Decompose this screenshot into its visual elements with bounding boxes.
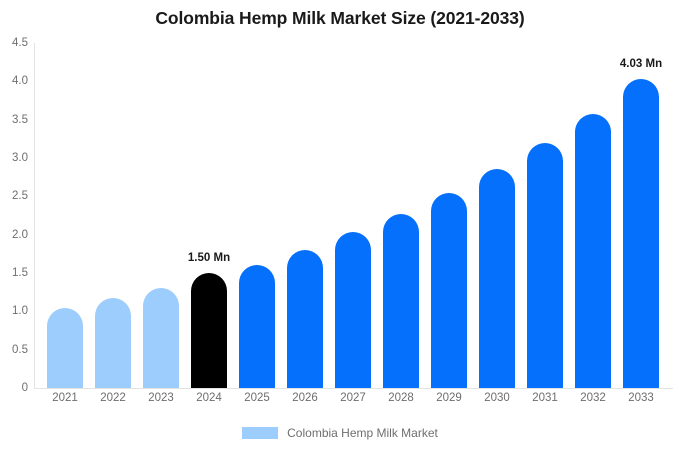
y-axis-tick-4.5: 4.5 <box>12 37 28 49</box>
bar-2031[interactable] <box>527 143 563 388</box>
bar-slot-2024: 1.50 Mn2024 <box>191 43 227 388</box>
y-axis-tick-2.0: 2.0 <box>12 229 28 241</box>
bar-value-label-2024: 1.50 Mn <box>188 252 230 264</box>
chart-container: Colombia Hemp Milk Market Size (2021-203… <box>0 0 680 450</box>
bar-slot-2033: 4.03 Mn2033 <box>623 43 659 388</box>
bar-2030[interactable] <box>479 169 515 388</box>
y-axis-tick-0.5: 0.5 <box>12 344 28 356</box>
bar-2023[interactable] <box>143 288 179 388</box>
bar-2021[interactable] <box>47 308 83 388</box>
x-axis-tick-2028: 2028 <box>388 392 414 404</box>
x-axis-tick-2021: 2021 <box>52 392 78 404</box>
y-axis-tick-4.0: 4.0 <box>12 75 28 87</box>
bar-value-label-2033: 4.03 Mn <box>620 58 662 70</box>
x-axis-tick-2022: 2022 <box>100 392 126 404</box>
x-axis-tick-2030: 2030 <box>484 392 510 404</box>
bar-slot-2029: 2029 <box>431 43 467 388</box>
bar-2025[interactable] <box>239 265 275 388</box>
bar-slot-2027: 2027 <box>335 43 371 388</box>
bar-slot-2023: 2023 <box>143 43 179 388</box>
x-axis-line <box>34 388 673 389</box>
x-axis-tick-2023: 2023 <box>148 392 174 404</box>
bar-slot-2032: 2032 <box>575 43 611 388</box>
legend-swatch-colombia-hemp-milk-market <box>242 427 278 439</box>
bar-2032[interactable] <box>575 114 611 388</box>
x-axis-tick-2029: 2029 <box>436 392 462 404</box>
y-axis-tick-0: 0 <box>22 382 28 394</box>
bar-2024[interactable] <box>191 273 227 388</box>
chart-title: Colombia Hemp Milk Market Size (2021-203… <box>0 8 680 29</box>
bar-slot-2026: 2026 <box>287 43 323 388</box>
bar-2029[interactable] <box>431 193 467 389</box>
bar-2033[interactable] <box>623 79 659 388</box>
bar-slot-2022: 2022 <box>95 43 131 388</box>
x-axis-tick-2032: 2032 <box>580 392 606 404</box>
x-axis-tick-2031: 2031 <box>532 392 558 404</box>
y-axis-tick-3.0: 3.0 <box>12 152 28 164</box>
x-axis-tick-2025: 2025 <box>244 392 270 404</box>
bar-2028[interactable] <box>383 214 419 388</box>
y-axis-tick-1.5: 1.5 <box>12 267 28 279</box>
bar-slot-2025: 2025 <box>239 43 275 388</box>
legend-label-colombia-hemp-milk-market: Colombia Hemp Milk Market <box>287 426 438 440</box>
bar-2027[interactable] <box>335 232 371 388</box>
y-axis-tick-2.5: 2.5 <box>12 190 28 202</box>
x-axis-tick-2026: 2026 <box>292 392 318 404</box>
bar-slot-2021: 2021 <box>47 43 83 388</box>
chart-legend: Colombia Hemp Milk Market <box>0 426 680 440</box>
plot-area: 00.51.01.52.02.53.03.54.04.5 20212022202… <box>35 43 673 388</box>
bar-2022[interactable] <box>95 298 131 388</box>
x-axis-tick-2033: 2033 <box>628 392 654 404</box>
bar-2026[interactable] <box>287 250 323 388</box>
x-axis-tick-2024: 2024 <box>196 392 222 404</box>
y-axis-tick-3.5: 3.5 <box>12 114 28 126</box>
y-axis-tick-1.0: 1.0 <box>12 305 28 317</box>
bar-slot-2031: 2031 <box>527 43 563 388</box>
x-axis-tick-2027: 2027 <box>340 392 366 404</box>
bar-slot-2028: 2028 <box>383 43 419 388</box>
bar-slot-2030: 2030 <box>479 43 515 388</box>
